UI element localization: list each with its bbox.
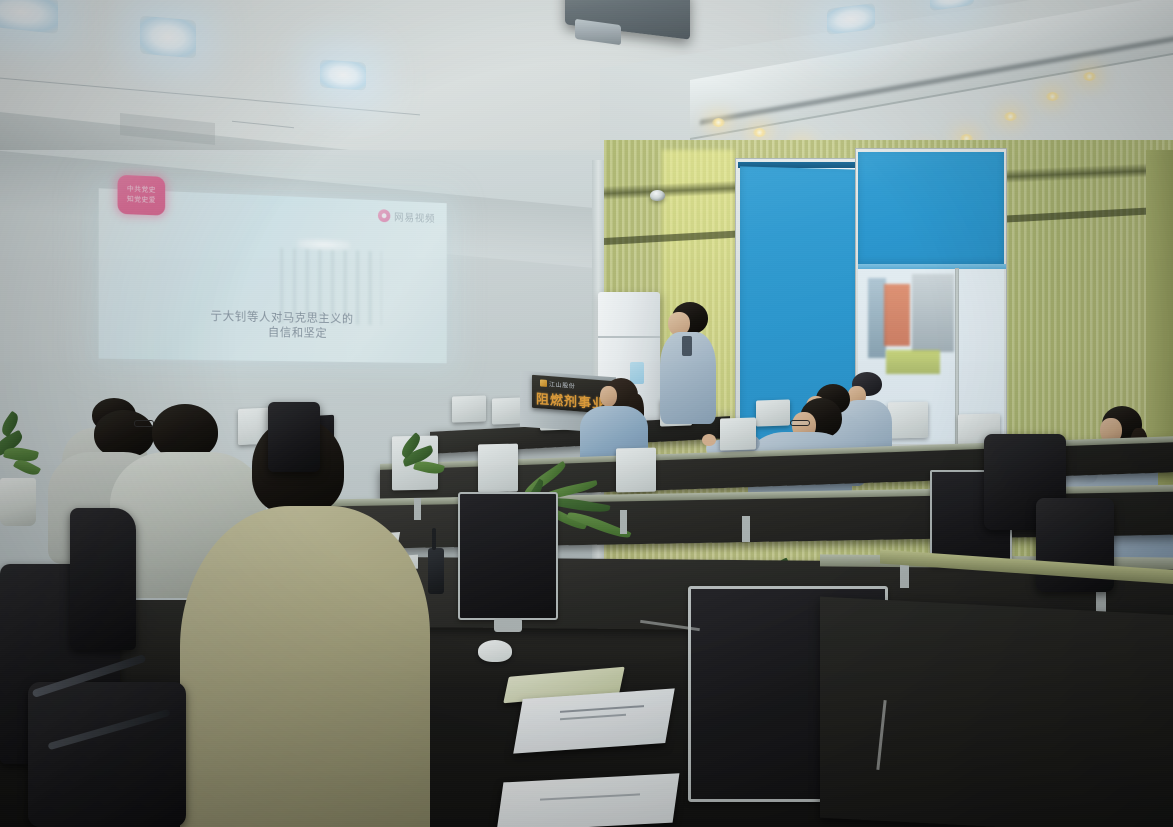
desk-front-right <box>820 597 1173 827</box>
office-chair[interactable] <box>28 682 186 827</box>
ceiling-panel-light-2 <box>140 16 196 59</box>
blind-bottom-rail-right <box>858 264 1006 269</box>
handheld-radio <box>428 548 444 594</box>
outside-building <box>912 274 954 352</box>
downlight-10 <box>712 118 725 127</box>
plant-pot-left <box>0 478 36 526</box>
presenter-collar <box>682 336 692 356</box>
netease-video-logo-icon <box>378 209 390 222</box>
desk-divider-post <box>620 510 627 534</box>
watermark-label: 网易视频 <box>394 209 435 225</box>
downlight-1 <box>1083 72 1096 81</box>
monitor <box>492 397 522 424</box>
training-room-photo: 中共党史 知党史爱 网易视频 亍大钊等人对马克思主义的 自信和坚定 江山股份 阻… <box>0 0 1173 827</box>
document-paper <box>513 688 675 753</box>
projection-badge-line2: 知党史爱 <box>127 195 156 206</box>
monitor <box>756 399 790 426</box>
outside-banner <box>884 284 910 346</box>
monitor <box>458 492 558 620</box>
radio-antenna <box>432 528 436 550</box>
projection-subtitles: 亍大钊等人对马克思主义的 自信和坚定 <box>99 307 447 344</box>
ceiling-panel-light-3 <box>320 59 366 90</box>
computer-mouse-icon <box>478 640 512 662</box>
monitor <box>478 444 518 493</box>
downlight-3 <box>1004 112 1017 121</box>
ac-seam <box>598 336 660 338</box>
roller-blind-right[interactable] <box>858 152 1004 266</box>
monitor-stand <box>494 618 522 632</box>
document-paper <box>497 773 680 827</box>
monitor <box>888 402 928 439</box>
company-logo-icon <box>540 379 547 387</box>
ceiling-panel-light-1 <box>0 0 58 34</box>
office-chair[interactable] <box>268 402 320 472</box>
denim-woman-face <box>600 386 617 407</box>
eyeglasses-icon <box>790 420 810 426</box>
downlight-2 <box>1046 92 1059 101</box>
desk-divider-post <box>414 498 421 520</box>
downlight-9 <box>753 128 766 137</box>
dome-camera-icon <box>650 190 665 201</box>
eyeglasses-icon <box>134 420 154 427</box>
projection-highlight <box>298 239 350 251</box>
office-chair[interactable] <box>70 508 136 650</box>
projection-watermark: 网易视频 <box>378 208 436 225</box>
outside-foliage <box>886 350 940 374</box>
desk-divider-post <box>742 516 750 542</box>
monitor <box>616 448 656 493</box>
attendee-hair <box>94 410 154 458</box>
glasses-man-hand <box>702 434 716 446</box>
projection-screen: 中共党史 知党史爱 网易视频 亍大钊等人对马克思主义的 自信和坚定 <box>99 188 447 363</box>
attendee-torso <box>180 506 430 827</box>
projection-badge: 中共党史 知党史爱 <box>118 175 166 216</box>
ac-control-panel[interactable] <box>630 362 644 384</box>
monitor <box>452 395 486 422</box>
monitor <box>720 417 756 450</box>
